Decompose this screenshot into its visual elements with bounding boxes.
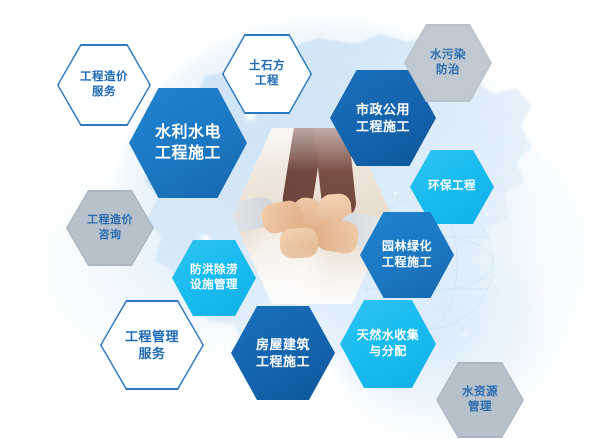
hex-label: 工程管理 服务 [119, 328, 185, 362]
hex-gongcheng-guanli-fuwu[interactable]: 工程管理 服务 [100, 300, 204, 390]
hex-label: 天然水收集 与分配 [351, 328, 426, 360]
hex-shuili-shuidian[interactable]: 水利水电 工程施工 [129, 88, 247, 198]
infographic-canvas: 工程造价 服务 土石方 工程 水利水电 工程施工 市政公用 工程施工 水污染 防… [0, 0, 600, 439]
hex-label: 土石方 工程 [243, 59, 291, 89]
hex-gongcheng-zaojia-zixun[interactable]: 工程造价 咨询 [66, 190, 154, 266]
hex-label: 工程造价 服务 [74, 70, 134, 100]
hex-label: 防洪除涝 设施管理 [184, 263, 244, 293]
hex-shuiwuran-fangzhi[interactable]: 水污染 防治 [404, 24, 492, 102]
hex-label: 环保工程 [422, 179, 482, 194]
hex-label: 水资源 管理 [456, 385, 504, 415]
hex-label: 市政公用 工程施工 [350, 101, 416, 135]
hex-label: 工程造价 咨询 [81, 213, 139, 242]
hex-tianranshui-shouji[interactable]: 天然水收集 与分配 [340, 300, 436, 388]
hex-fangwu-jianzhu[interactable]: 房屋建筑 工程施工 [231, 306, 335, 400]
hex-label: 水污染 防治 [424, 48, 472, 78]
hex-shuiziyuan-guanli[interactable]: 水资源 管理 [436, 362, 524, 438]
hex-label: 园林绿化 工程施工 [376, 239, 438, 271]
hex-label: 水利水电 工程施工 [149, 122, 227, 164]
hex-label: 房屋建筑 工程施工 [250, 336, 316, 370]
hex-yuanlin-lvhua[interactable]: 园林绿化 工程施工 [360, 212, 454, 298]
